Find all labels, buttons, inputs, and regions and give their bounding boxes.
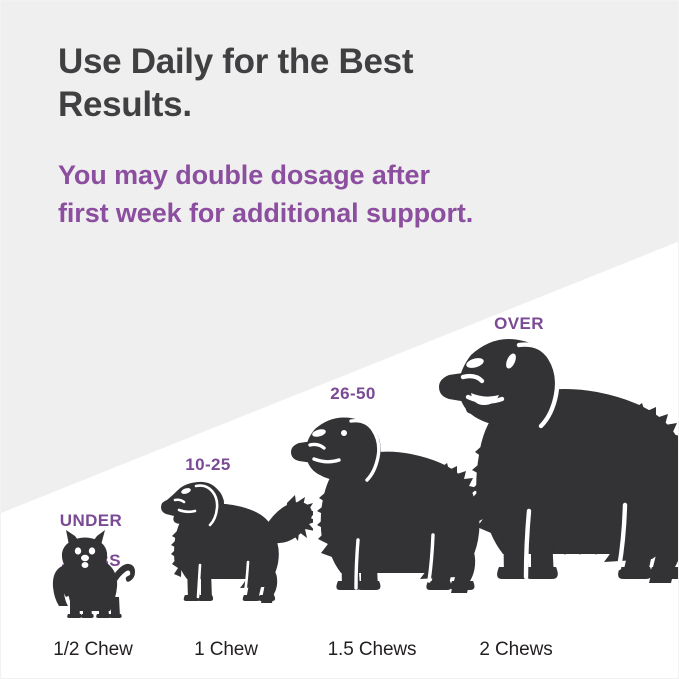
- small-terrier-silhouette-icon: [45, 527, 139, 621]
- page-title: Use Daily for the Best Results.: [58, 41, 528, 126]
- subheadline-line-2: first week for additional support.: [58, 198, 473, 228]
- subheadline-line-1: You may double dosage after: [58, 160, 430, 190]
- page-subtitle: You may double dosage after first week f…: [58, 156, 558, 233]
- dosage-infographic: Use Daily for the Best Results. You may …: [0, 0, 679, 679]
- dose-label-one-chew: 1 Chew: [159, 639, 293, 661]
- headline-line-2: Results.: [58, 85, 192, 124]
- dose-label-half-chew: 1/2 Chew: [21, 639, 165, 661]
- dose-label-one-and-half-chews: 1.5 Chews: [297, 639, 447, 661]
- large-newfoundland-silhouette-icon: [435, 331, 679, 621]
- weight-label-line-1: 26-50: [330, 384, 375, 403]
- headline-line-1: Use Daily for the Best: [58, 42, 413, 81]
- dose-label-two-chews: 2 Chews: [441, 639, 591, 661]
